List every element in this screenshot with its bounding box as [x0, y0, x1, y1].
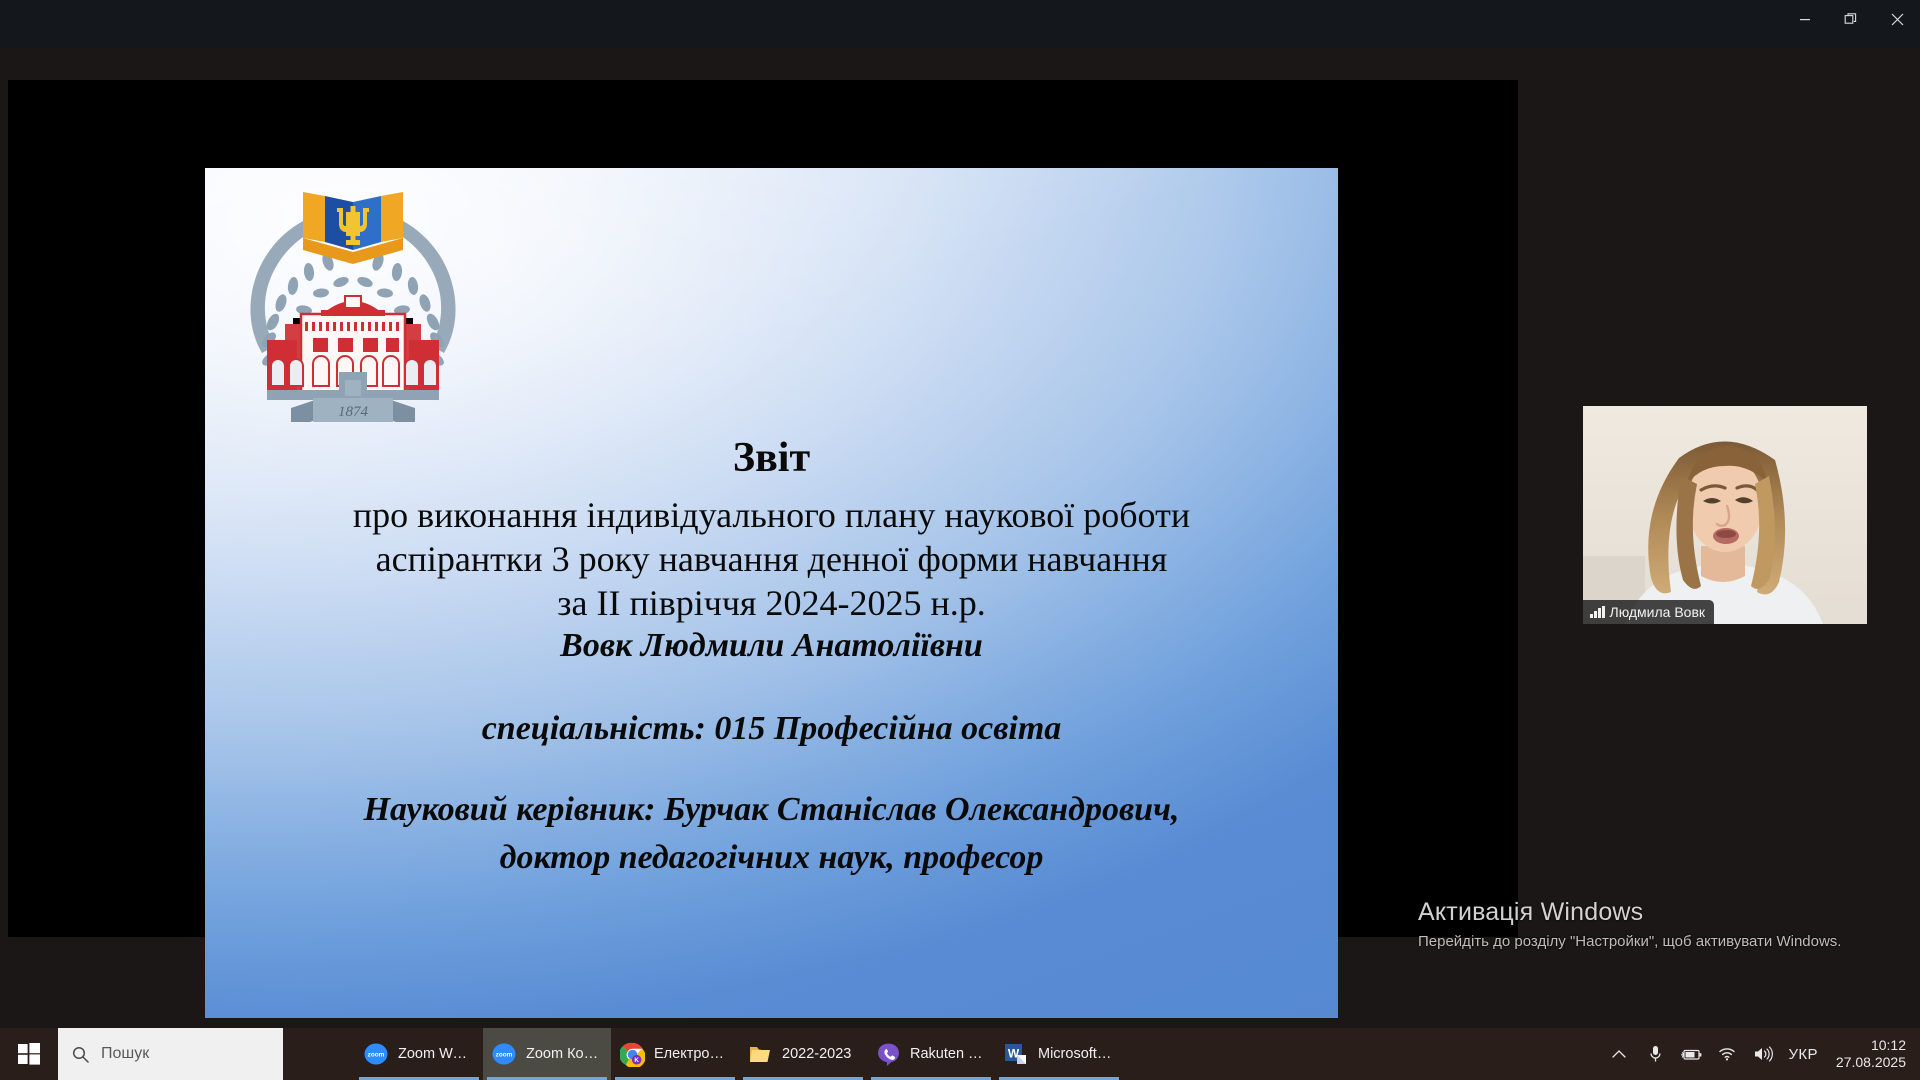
microphone-icon — [1648, 1045, 1663, 1063]
taskbar-item-zoom-meeting[interactable]: zoom Zoom Конферен... — [483, 1028, 611, 1080]
participant-video-feed — [1583, 406, 1867, 624]
signal-bars-icon — [1590, 606, 1605, 618]
windows-activation-watermark: Активація Windows Перейдіть до розділу "… — [1418, 898, 1878, 952]
windows-start-icon — [18, 1043, 40, 1065]
battery-icon — [1680, 1048, 1702, 1061]
taskbar-item-viber[interactable]: Rakuten Viber — [867, 1028, 995, 1080]
taskbar-item-label: Zoom Workplace — [398, 1046, 475, 1062]
zoom-icon: zoom — [363, 1041, 389, 1067]
slide-title: Звіт — [205, 436, 1338, 481]
taskbar-item-chrome[interactable]: K Електронний каб... — [611, 1028, 739, 1080]
search-icon — [72, 1046, 89, 1063]
chrome-icon: K — [619, 1041, 645, 1067]
slide-supervisor: Науковий керівник: Бурчак Станіслав Олек… — [205, 792, 1338, 828]
taskbar-item-word[interactable]: W Microsoft Word 2... — [995, 1028, 1123, 1080]
clock[interactable]: 10:12 27.08.2025 — [1832, 1037, 1906, 1072]
svg-text:zoom: zoom — [496, 1052, 513, 1059]
taskbar-item-label: 2022-2023 — [782, 1046, 851, 1062]
watermark-title: Активація Windows — [1418, 898, 1878, 927]
volume-button[interactable] — [1752, 1043, 1774, 1065]
slide-line-3: за ІІ півріччя 2024-2025 н.р. — [205, 584, 1338, 623]
zoom-app-window: 1874 Звіт про виконання індивідуального … — [0, 0, 1920, 1080]
clock-date: 27.08.2025 — [1836, 1054, 1906, 1072]
slide-author: Вовк Людмили Анатоліївни — [205, 628, 1338, 664]
search-input[interactable]: Пошук — [58, 1028, 283, 1080]
wifi-icon — [1718, 1047, 1736, 1061]
taskbar-item-label: Microsoft Word 2... — [1038, 1046, 1115, 1062]
chevron-up-icon — [1612, 1049, 1626, 1059]
close-icon — [1891, 13, 1904, 26]
microphone-button[interactable] — [1644, 1043, 1666, 1065]
language-indicator[interactable]: УКР — [1788, 1046, 1817, 1063]
clock-time: 10:12 — [1836, 1037, 1906, 1055]
taskbar-item-label: Електронний каб... — [654, 1046, 731, 1062]
window-titlebar — [0, 0, 1920, 48]
start-button[interactable] — [0, 1028, 58, 1080]
slide-line-1: про виконання індивідуального плану наук… — [205, 496, 1338, 535]
emblem-year: 1874 — [338, 404, 369, 420]
speaker-icon — [1753, 1046, 1773, 1062]
viber-icon — [875, 1041, 901, 1067]
slide-supervisor-degree: доктор педагогічних наук, професор — [205, 840, 1338, 876]
slide-specialty: спеціальність: 015 Професійна освіта — [205, 711, 1338, 747]
svg-text:K: K — [634, 1057, 639, 1064]
show-hidden-icons-button[interactable] — [1608, 1043, 1630, 1065]
search-placeholder: Пошук — [101, 1045, 149, 1063]
taskbar-item-zoom-workplace[interactable]: zoom Zoom Workplace — [355, 1028, 483, 1080]
zoom-icon: zoom — [491, 1041, 517, 1067]
presentation-slide[interactable]: 1874 Звіт про виконання індивідуального … — [205, 168, 1338, 1018]
taskbar-item-folder[interactable]: 2022-2023 — [739, 1028, 867, 1080]
close-button[interactable] — [1874, 0, 1920, 38]
system-tray: УКР 10:12 27.08.2025 — [1608, 1028, 1920, 1080]
taskbar-item-label: Zoom Конферен... — [526, 1046, 603, 1062]
participant-name: Людмила Вовк — [1610, 604, 1706, 620]
restore-button[interactable] — [1828, 0, 1874, 38]
minimize-icon — [1799, 13, 1811, 25]
watermark-subtitle: Перейдіть до розділу "Настройки", щоб ак… — [1418, 932, 1848, 952]
participant-name-badge: Людмила Вовк — [1583, 600, 1714, 624]
folder-icon — [747, 1041, 773, 1067]
network-button[interactable] — [1716, 1043, 1738, 1065]
participant-video-tile[interactable]: Людмила Вовк — [1583, 406, 1867, 624]
university-emblem-icon: 1874 — [229, 172, 477, 422]
restore-icon — [1844, 12, 1858, 26]
taskbar-item-label: Rakuten Viber — [910, 1046, 987, 1062]
minimize-button[interactable] — [1782, 0, 1828, 38]
slide-line-2: аспірантки 3 року навчання денної форми … — [205, 540, 1338, 579]
battery-button[interactable] — [1680, 1043, 1702, 1065]
windows-taskbar: Пошук zoom Zoom Workplace zoom — [0, 1028, 1920, 1080]
taskbar-task-list: zoom Zoom Workplace zoom Zoom Конферен..… — [355, 1028, 1123, 1080]
word-icon: W — [1003, 1041, 1029, 1067]
svg-text:zoom: zoom — [368, 1052, 385, 1059]
shared-screen-stage[interactable]: 1874 Звіт про виконання індивідуального … — [8, 80, 1518, 937]
